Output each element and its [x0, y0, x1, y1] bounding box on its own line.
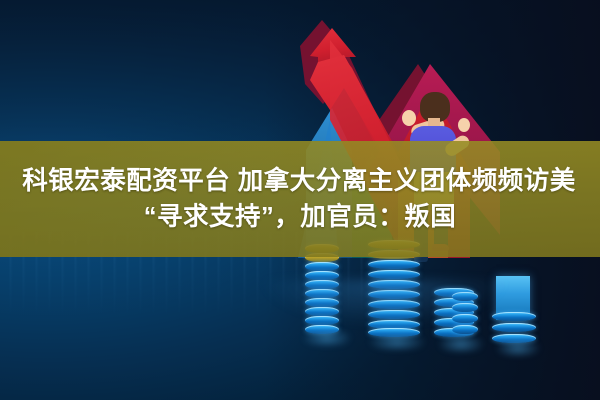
- coin: [305, 271, 339, 280]
- person-hand-right: [458, 118, 470, 132]
- headline-band: 科银宏泰配资平台 加拿大分离主义团体频频访美 “寻求支持”，加官员：叛国: [0, 141, 600, 257]
- headline-line-2: “寻求支持”，加官员：叛国: [144, 200, 457, 234]
- coin: [305, 262, 339, 271]
- coin: [368, 270, 420, 279]
- thumbnail-image: 科银宏泰配资平台 加拿大分离主义团体频频访美 “寻求支持”，加官员：叛国: [0, 0, 600, 400]
- headline-line-1: 科银宏泰配资平台 加拿大分离主义团体频频访美: [22, 164, 576, 198]
- coin: [368, 260, 420, 269]
- floor-glow: [240, 280, 528, 344]
- person-hand-left: [402, 110, 416, 126]
